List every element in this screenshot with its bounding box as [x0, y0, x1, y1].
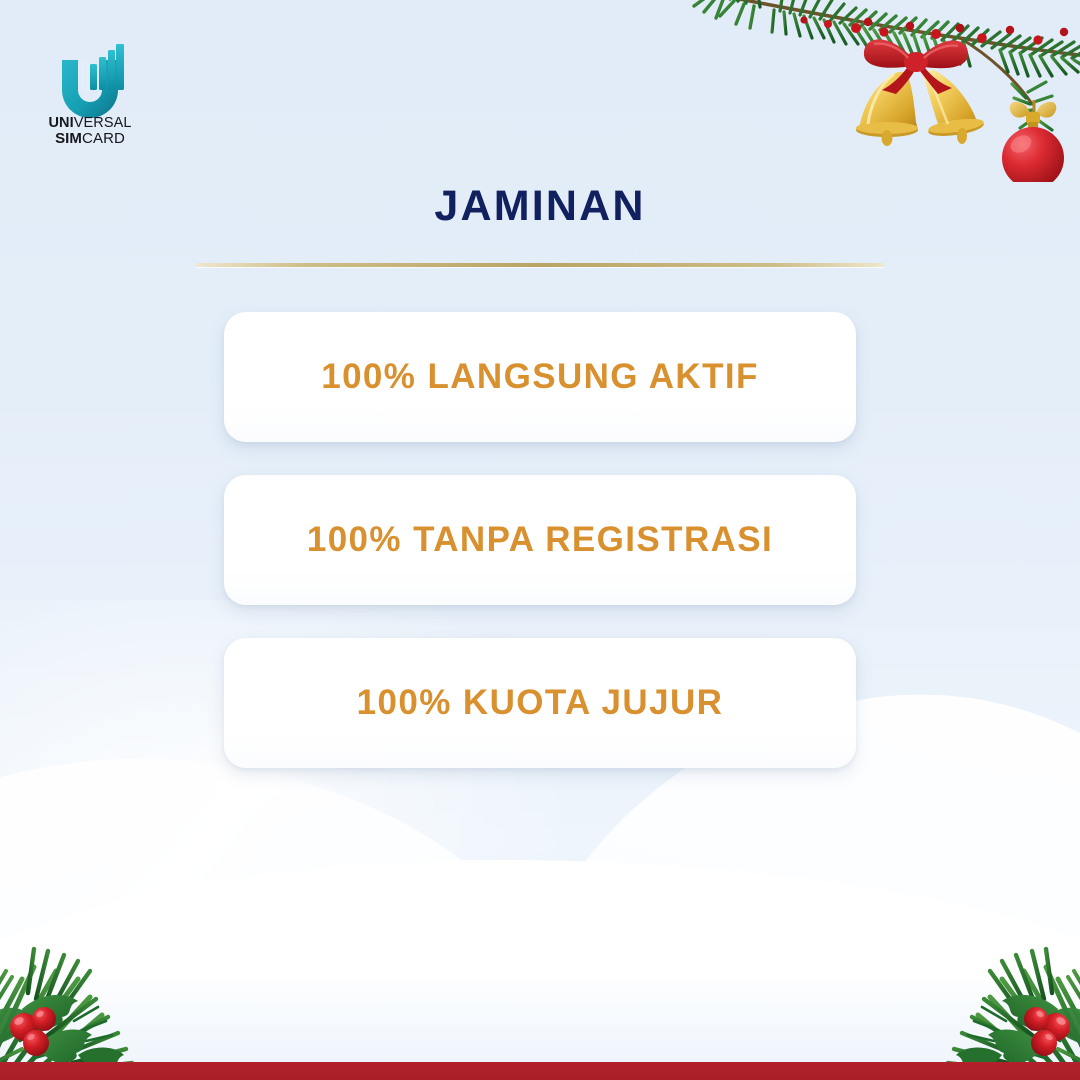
poster-canvas: UNIVERSAL SIMCARD JAMINAN 100% LANGSUNG …	[0, 0, 1080, 1080]
page-title: JAMINAN	[0, 182, 1080, 231]
red-ornament-ball	[1002, 100, 1064, 182]
logo-text-card: CARD	[82, 130, 125, 147]
red-berries	[1024, 1007, 1070, 1056]
pine-branch-with-bells-and-ornament-icon	[660, 0, 1080, 182]
guarantee-card-label: 100% KUOTA JUJUR	[357, 683, 724, 723]
holly-leaves	[0, 995, 124, 1072]
guarantee-card-list: 100% LANGSUNG AKTIF 100% TANPA REGISTRAS…	[224, 312, 856, 768]
guarantee-card[interactable]: 100% TANPA REGISTRASI	[224, 475, 856, 605]
golden-bells	[856, 39, 985, 146]
snow-hill-front	[0, 860, 1080, 1080]
pine-branch-with-holly-berries-icon	[864, 859, 1080, 1074]
guarantee-card[interactable]: 100% LANGSUNG AKTIF	[224, 312, 856, 442]
universal-simcard-logo[interactable]: UNIVERSAL SIMCARD	[34, 44, 146, 154]
red-footer-bar	[0, 1062, 1080, 1080]
logo-text-uni: UNI	[48, 115, 73, 131]
guarantee-card[interactable]: 100% KUOTA JUJUR	[224, 638, 856, 768]
u-signal-bars-icon	[52, 44, 128, 118]
snow-hill-left	[0, 723, 617, 1080]
guarantee-card-label: 100% LANGSUNG AKTIF	[321, 357, 759, 397]
logo-text-versal: VERSAL	[74, 115, 132, 131]
logo-text-sim: SIM	[55, 130, 82, 147]
red-berries	[10, 1007, 56, 1056]
red-berries	[800, 16, 1080, 46]
gold-divider-line	[196, 263, 884, 267]
red-bow	[864, 39, 968, 94]
guarantee-card-label: 100% TANPA REGISTRASI	[307, 520, 773, 560]
holly-leaves	[956, 995, 1080, 1072]
pine-branch-with-holly-berries-icon	[0, 859, 216, 1074]
logo-wordmark: UNIVERSAL SIMCARD	[34, 116, 146, 146]
